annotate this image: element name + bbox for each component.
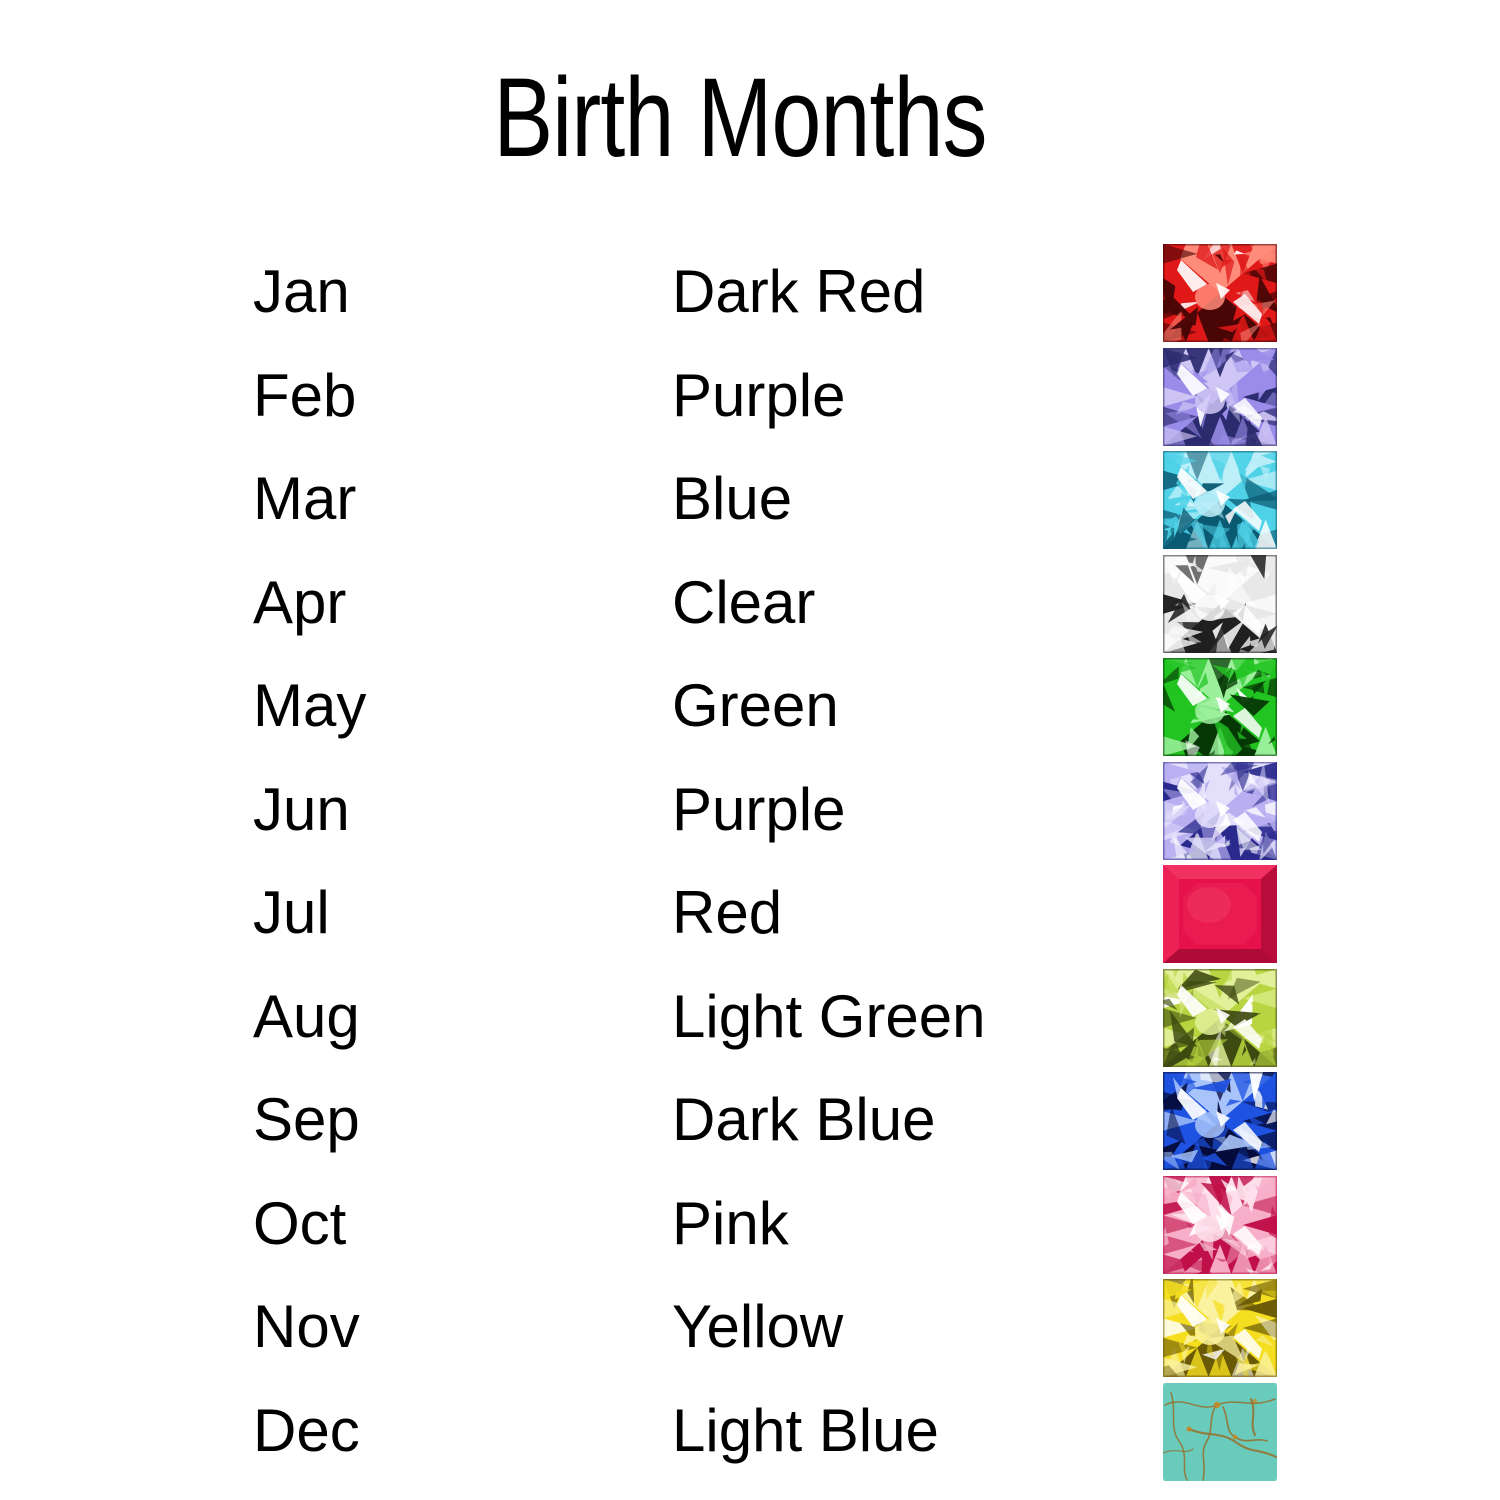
- color-label: Yellow: [672, 1278, 1142, 1376]
- color-label: Dark Blue: [672, 1071, 1142, 1169]
- table-row: AprClear: [0, 554, 1500, 658]
- month-label: Feb: [253, 347, 633, 445]
- table-row: JunPurple: [0, 761, 1500, 865]
- gemstone-green: [1163, 658, 1277, 756]
- color-label: Light Green: [672, 968, 1142, 1066]
- gemstone-peridot: [1163, 969, 1277, 1067]
- month-label: Jul: [253, 864, 633, 962]
- table-row: MarBlue: [0, 450, 1500, 554]
- month-label: Dec: [253, 1382, 633, 1480]
- gemstone-purple: [1163, 348, 1277, 446]
- table-row: OctPink: [0, 1175, 1500, 1279]
- gemstone-yellow: [1163, 1279, 1277, 1377]
- color-label: Purple: [672, 761, 1142, 859]
- color-label: Purple: [672, 347, 1142, 445]
- color-label: Light Blue: [672, 1382, 1142, 1480]
- color-label: Green: [672, 657, 1142, 755]
- table-row: MayGreen: [0, 657, 1500, 761]
- color-label: Pink: [672, 1175, 1142, 1273]
- color-label: Red: [672, 864, 1142, 962]
- month-label: Sep: [253, 1071, 633, 1169]
- table-row: JanDark Red: [0, 243, 1500, 347]
- gemstone-pink: [1163, 1176, 1277, 1274]
- gemstone-light-purple: [1163, 762, 1277, 860]
- table-row: DecLight Blue: [0, 1382, 1500, 1486]
- gemstone-ruby-red: [1163, 865, 1277, 963]
- gemstone-sapphire: [1163, 1072, 1277, 1170]
- month-label: Jan: [253, 243, 633, 341]
- color-label: Clear: [672, 554, 1142, 652]
- table-row: SepDark Blue: [0, 1071, 1500, 1175]
- gemstone-dark-red: [1163, 244, 1277, 342]
- month-label: Jun: [253, 761, 633, 859]
- month-label: Apr: [253, 554, 633, 652]
- color-label: Blue: [672, 450, 1142, 548]
- month-label: Mar: [253, 450, 633, 548]
- month-label: Oct: [253, 1175, 633, 1273]
- table-row: JulRed: [0, 864, 1500, 968]
- table-row: AugLight Green: [0, 968, 1500, 1072]
- page-title: Birth Months: [148, 62, 1332, 174]
- gemstone-clear: [1163, 555, 1277, 653]
- gemstone-aqua-blue: [1163, 451, 1277, 549]
- table-row: NovYellow: [0, 1278, 1500, 1382]
- month-label: Nov: [253, 1278, 633, 1376]
- birth-months-table: JanDark RedFebPurpleMarBlueAprClearMayGr…: [0, 243, 1500, 1485]
- month-label: Aug: [253, 968, 633, 1066]
- gemstone-turquoise: [1163, 1383, 1277, 1481]
- table-row: FebPurple: [0, 347, 1500, 451]
- month-label: May: [253, 657, 633, 755]
- color-label: Dark Red: [672, 243, 1142, 341]
